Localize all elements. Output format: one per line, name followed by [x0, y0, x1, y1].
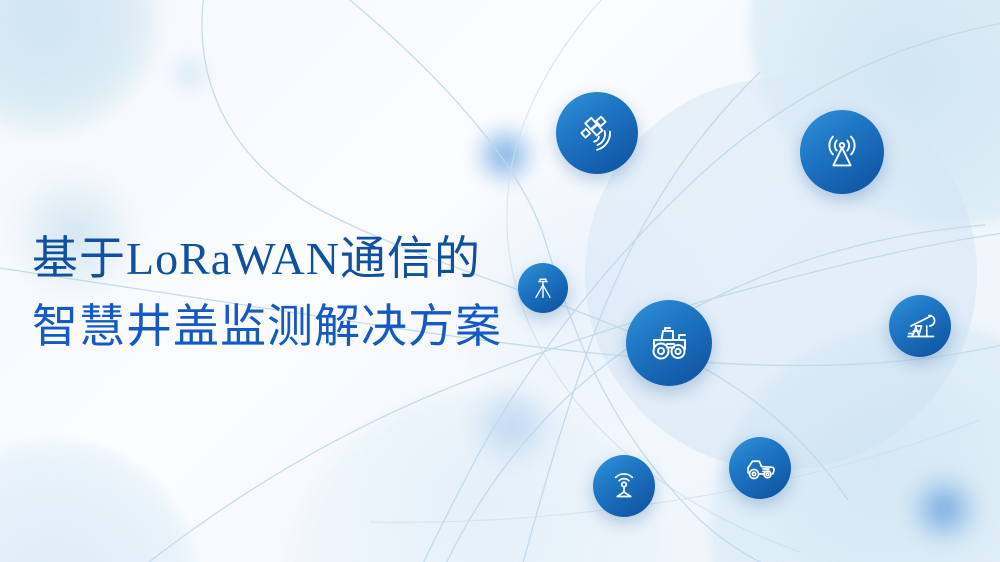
title-block: 基于LoRaWAN通信的 智慧井盖监测解决方案	[32, 228, 592, 364]
radio-tower-icon	[819, 129, 865, 175]
network-sphere	[585, 78, 977, 470]
signal-beacon-icon	[606, 468, 642, 504]
accent-glow-dot-lower-right	[905, 470, 983, 548]
node-satellite[interactable]	[556, 92, 638, 174]
node-signal-beacon[interactable]	[593, 455, 655, 517]
decorative-blob-top-left	[0, 0, 160, 135]
node-oil-pumpjack[interactable]	[889, 295, 951, 357]
decorative-blob-top-right	[750, 0, 1000, 225]
tractor-icon	[645, 319, 693, 367]
oil-pumpjack-icon	[902, 308, 938, 344]
node-harvester[interactable]	[729, 437, 791, 499]
title-line-1: 基于LoRaWAN通信的	[32, 228, 592, 290]
harvester-icon	[742, 450, 778, 486]
satellite-icon	[574, 110, 620, 156]
node-tractor[interactable]	[626, 300, 712, 386]
accent-glow-dot-top-left	[168, 52, 212, 96]
title-line-2: 智慧井盖监测解决方案	[32, 290, 592, 364]
accent-glow-dot-center	[468, 382, 556, 470]
node-radio-tower[interactable]	[800, 110, 884, 194]
accent-glow-dot-upper	[470, 120, 540, 190]
title-slide: 基于LoRaWAN通信的 智慧井盖监测解决方案	[0, 0, 1000, 562]
decorative-blob-bottom-left	[0, 440, 198, 562]
